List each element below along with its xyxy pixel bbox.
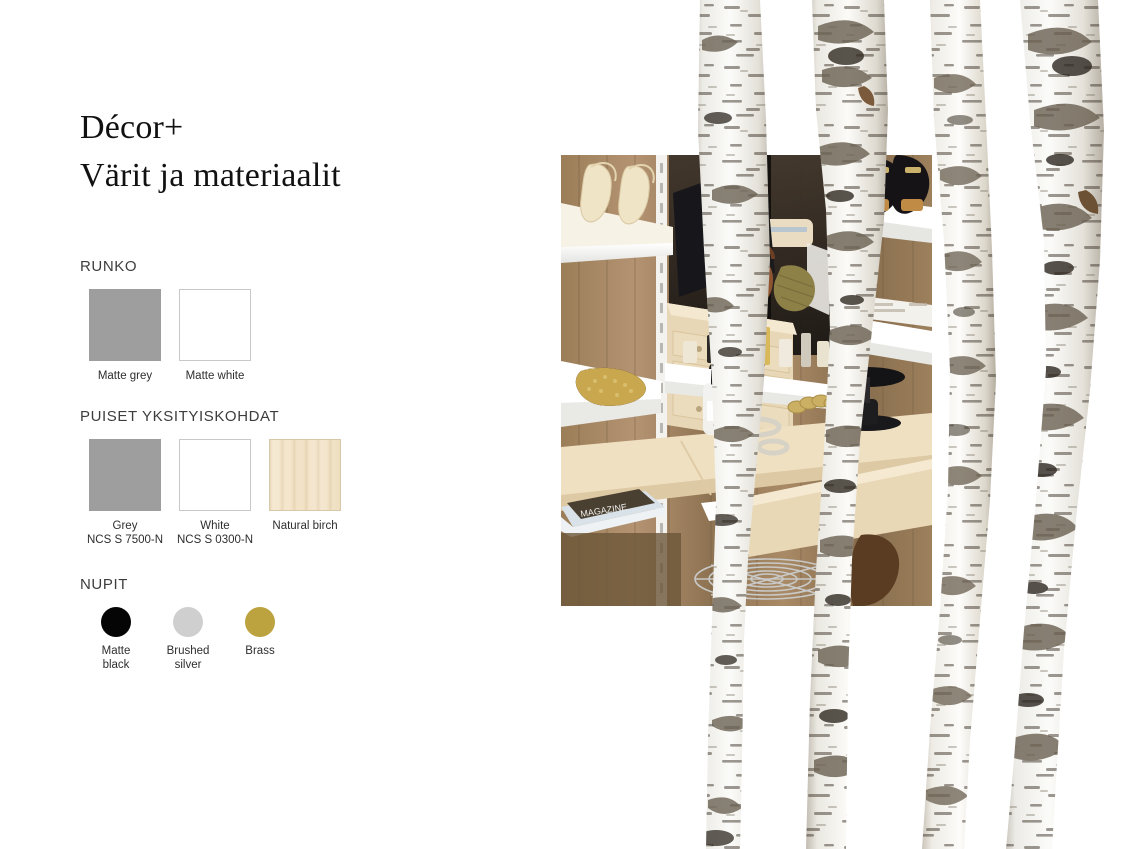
swatch-brass[interactable]: Brass <box>224 607 296 659</box>
swatch-matte-white[interactable]: Matte white <box>170 289 260 384</box>
section-heading-nupit: NUPIT <box>80 576 296 593</box>
swatch-matte-grey[interactable]: Matte grey <box>80 289 170 384</box>
slide-canvas: Décor+ Värit ja materiaalit RUNKO Matte … <box>0 0 1132 849</box>
swatch-label-matte-grey: Matte grey <box>98 370 152 384</box>
swatch-row-nupit: Matte black Brushed silver Brass <box>80 607 296 672</box>
swatch-label-brushed-silver: Brushed silver <box>167 645 210 672</box>
walk-in-closet-photo: MAGAZINE <box>561 155 932 606</box>
swatch-row-runko: Matte grey Matte white <box>80 289 260 384</box>
swatch-brushed-silver[interactable]: Brushed silver <box>152 607 224 672</box>
birch-trunk-4 <box>1000 0 1110 849</box>
swatch-label-matte-white: Matte white <box>186 370 245 384</box>
swatch-chip-white[interactable] <box>179 439 251 511</box>
swatch-label-grey: Grey NCS S 7500-N <box>87 520 163 547</box>
swatch-natural-birch[interactable]: Natural birch <box>260 439 350 534</box>
swatch-chip-brass[interactable] <box>245 607 275 637</box>
swatch-chip-matte-grey[interactable] <box>89 289 161 361</box>
swatch-row-puiset: Grey NCS S 7500-N White NCS S 0300-N Nat… <box>80 439 350 547</box>
swatch-label-brass: Brass <box>245 645 274 659</box>
section-heading-runko: RUNKO <box>80 258 260 275</box>
section-puiset-yksityiskohdat: PUISET YKSITYISKOHDAT Grey NCS S 7500-N … <box>80 408 350 547</box>
swatch-chip-brushed-silver[interactable] <box>173 607 203 637</box>
page-title: Décor+ Värit ja materiaalit <box>80 104 341 200</box>
swatch-white[interactable]: White NCS S 0300-N <box>170 439 260 547</box>
swatch-label-white: White NCS S 0300-N <box>177 520 253 547</box>
section-runko: RUNKO Matte grey Matte white <box>80 258 260 384</box>
swatch-label-natural-birch: Natural birch <box>272 520 337 534</box>
swatch-chip-natural-birch[interactable] <box>269 439 341 511</box>
swatch-chip-matte-white[interactable] <box>179 289 251 361</box>
title-line-2: Värit ja materiaalit <box>80 152 341 200</box>
title-line-1: Décor+ <box>80 104 341 152</box>
swatch-chip-grey[interactable] <box>89 439 161 511</box>
section-nupit: NUPIT Matte black Brushed silver Brass <box>80 576 296 672</box>
swatch-chip-matte-black[interactable] <box>101 607 131 637</box>
section-heading-puiset: PUISET YKSITYISKOHDAT <box>80 408 350 425</box>
swatch-label-matte-black: Matte black <box>102 645 131 672</box>
swatch-matte-black[interactable]: Matte black <box>80 607 152 672</box>
swatch-grey[interactable]: Grey NCS S 7500-N <box>80 439 170 547</box>
